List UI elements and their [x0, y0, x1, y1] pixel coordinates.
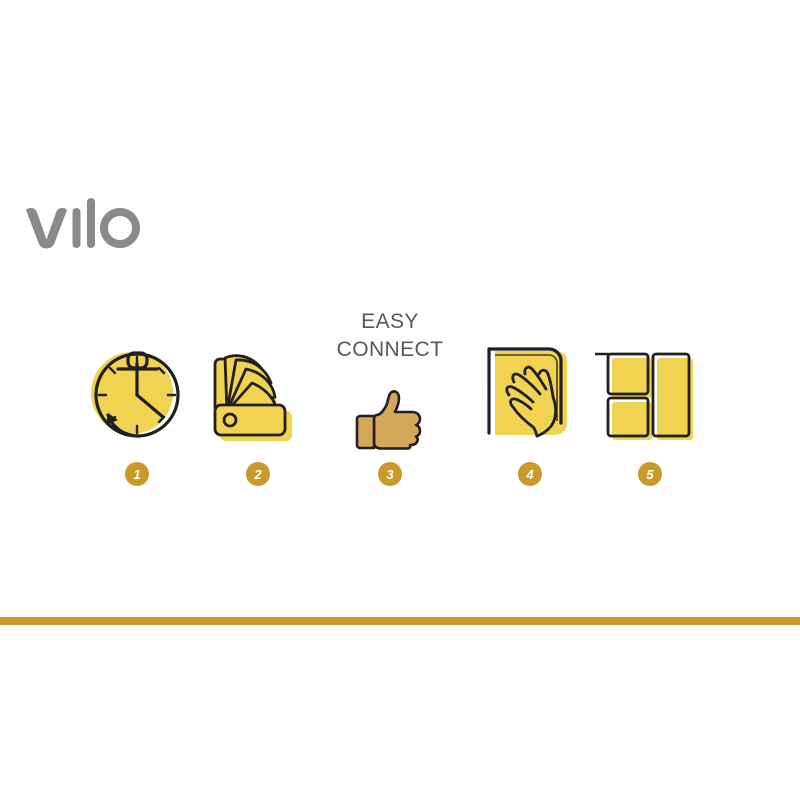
feature-badge-2: 2 — [246, 462, 270, 486]
feature-strip: 1 — [70, 300, 730, 500]
feature-item-1: 1 — [77, 300, 197, 500]
feature-badge-4: 4 — [518, 462, 542, 486]
thumbs-up-icon — [330, 300, 450, 450]
colour-swatch-fan-icon — [198, 300, 318, 450]
hand-wipe-clean-icon — [470, 300, 590, 450]
feature-badge-3: 3 — [378, 462, 402, 486]
wall-panel-layout-icon — [590, 300, 710, 450]
vilo-wordmark-icon — [24, 198, 164, 254]
brand-logo — [24, 198, 164, 254]
feature-item-2: 2 — [198, 300, 318, 500]
feature-item-3: EASY CONNECT 3 — [330, 300, 450, 500]
stopwatch-icon — [77, 300, 197, 450]
feature-item-5: 5 — [590, 300, 710, 500]
feature-badge-1: 1 — [125, 462, 149, 486]
bottom-gold-rule — [0, 617, 800, 625]
feature-badge-5: 5 — [638, 462, 662, 486]
slide-canvas: 1 — [0, 0, 800, 800]
feature-item-4: 4 — [470, 300, 590, 500]
